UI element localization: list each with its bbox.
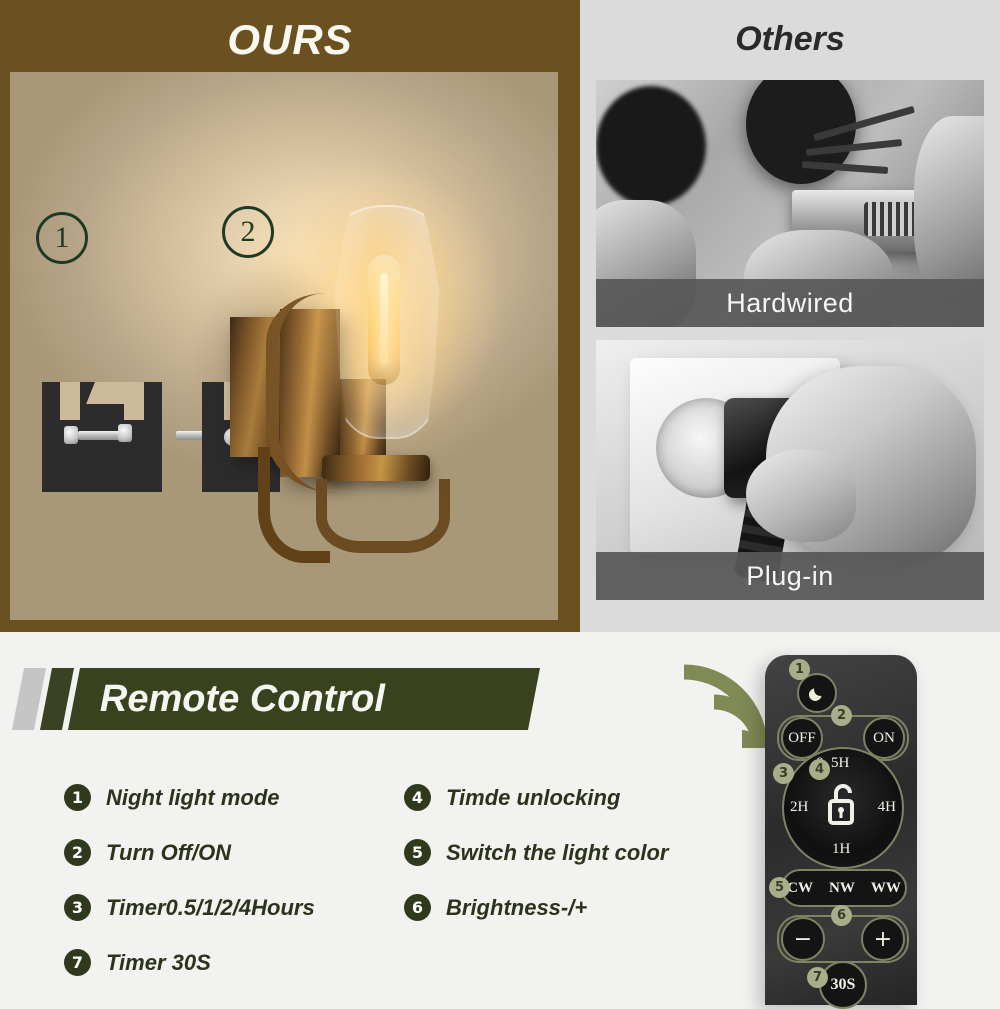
feature-item-5: 5 Switch the light color [404,839,668,866]
timer-dial[interactable]: 0. 5H 2H 4H 1H [782,747,904,869]
feature-item-4: 4 Timde unlocking [404,784,620,811]
marker-5: 5 [769,877,790,898]
feature-number: 7 [64,949,91,976]
ours-title: OURS [227,16,352,64]
feature-row: 2 Turn Off/ON 5 Switch the light color [64,839,704,866]
ww-option[interactable]: WW [871,880,901,897]
unlock-icon [825,779,861,831]
feature-item-3: 3 Timer0.5/1/2/4Hours [64,894,404,921]
product-infographic: OURS 1 2 [0,0,1000,1000]
brightness-up-button[interactable]: + [861,917,905,961]
feature-list: 1 Night light mode 4 Timde unlocking 2 T… [64,784,704,1004]
photo-marker-1: 1 [36,212,88,264]
feature-label: Brightness-/+ [446,895,587,921]
banner-title: Remote Control [100,678,385,721]
banner-plate: Remote Control [68,668,540,730]
feature-number: 5 [404,839,431,866]
plugin-caption: Plug-in [596,552,984,600]
wall-sconce-lamp [230,197,510,557]
timer-2h-label[interactable]: 2H [790,799,808,816]
feature-number: 2 [64,839,91,866]
feature-item-2: 2 Turn Off/ON [64,839,404,866]
ours-header: OURS [0,8,580,72]
timer-4h-label[interactable]: 4H [878,799,896,816]
timer-30s-button[interactable]: 30S [819,961,867,1009]
color-temp-row[interactable]: CW NW WW [781,869,907,907]
feature-label: Switch the light color [446,840,668,866]
feature-item-6: 6 Brightness-/+ [404,894,587,921]
feature-row: 1 Night light mode 4 Timde unlocking [64,784,704,811]
feature-number: 1 [64,784,91,811]
feature-row: 3 Timer0.5/1/2/4Hours 6 Brightness-/+ [64,894,704,921]
hardwired-caption: Hardwired [596,279,984,327]
timer-1h-label[interactable]: 1H [832,841,850,858]
mounting-bracket-1 [42,382,162,492]
remote-control-device: 1 2 OFF ON 3 0. 5H 2H 4H 1H [765,655,917,1005]
marker-3: 3 [773,763,794,784]
plugin-photo: Plug-in [596,340,984,600]
marker-2: 2 [831,705,852,726]
others-title: Others [580,20,1000,59]
remote-banner: Remote Control [18,668,534,730]
feature-label: Turn Off/ON [106,840,231,866]
lamp-cup [322,455,430,481]
feature-label: Timer 30S [106,950,211,976]
feature-label: Timer0.5/1/2/4Hours [106,895,315,921]
feature-row: 7 Timer 30S [64,949,704,976]
feature-label: Night light mode [106,785,280,811]
marker-7: 7 [807,967,828,988]
nw-option[interactable]: NW [829,880,855,897]
ours-panel: OURS 1 2 [0,0,580,632]
others-panel: Others Hardwired [580,0,1000,632]
lamp-glass-chimney [330,205,444,439]
feature-item-7: 7 Timer 30S [64,949,404,976]
feature-item-1: 1 Night light mode [64,784,404,811]
signal-icon [672,664,768,756]
unlock-button[interactable] [825,779,861,831]
hardwired-photo: Hardwired [596,80,984,327]
feature-number: 4 [404,784,431,811]
marker-6: 6 [831,905,852,926]
lamp-bottom-curl [316,479,450,553]
brightness-down-button[interactable]: − [781,917,825,961]
ours-product-photo: 1 2 [10,72,558,620]
cw-option[interactable]: CW [787,880,813,897]
feature-label: Timde unlocking [446,785,620,811]
feature-number: 6 [404,894,431,921]
moon-icon [807,683,827,703]
marker-1: 1 [789,659,810,680]
screw-head [64,426,78,444]
screw-head [118,424,132,442]
feature-number: 3 [64,894,91,921]
marker-4: 4 [809,759,830,780]
